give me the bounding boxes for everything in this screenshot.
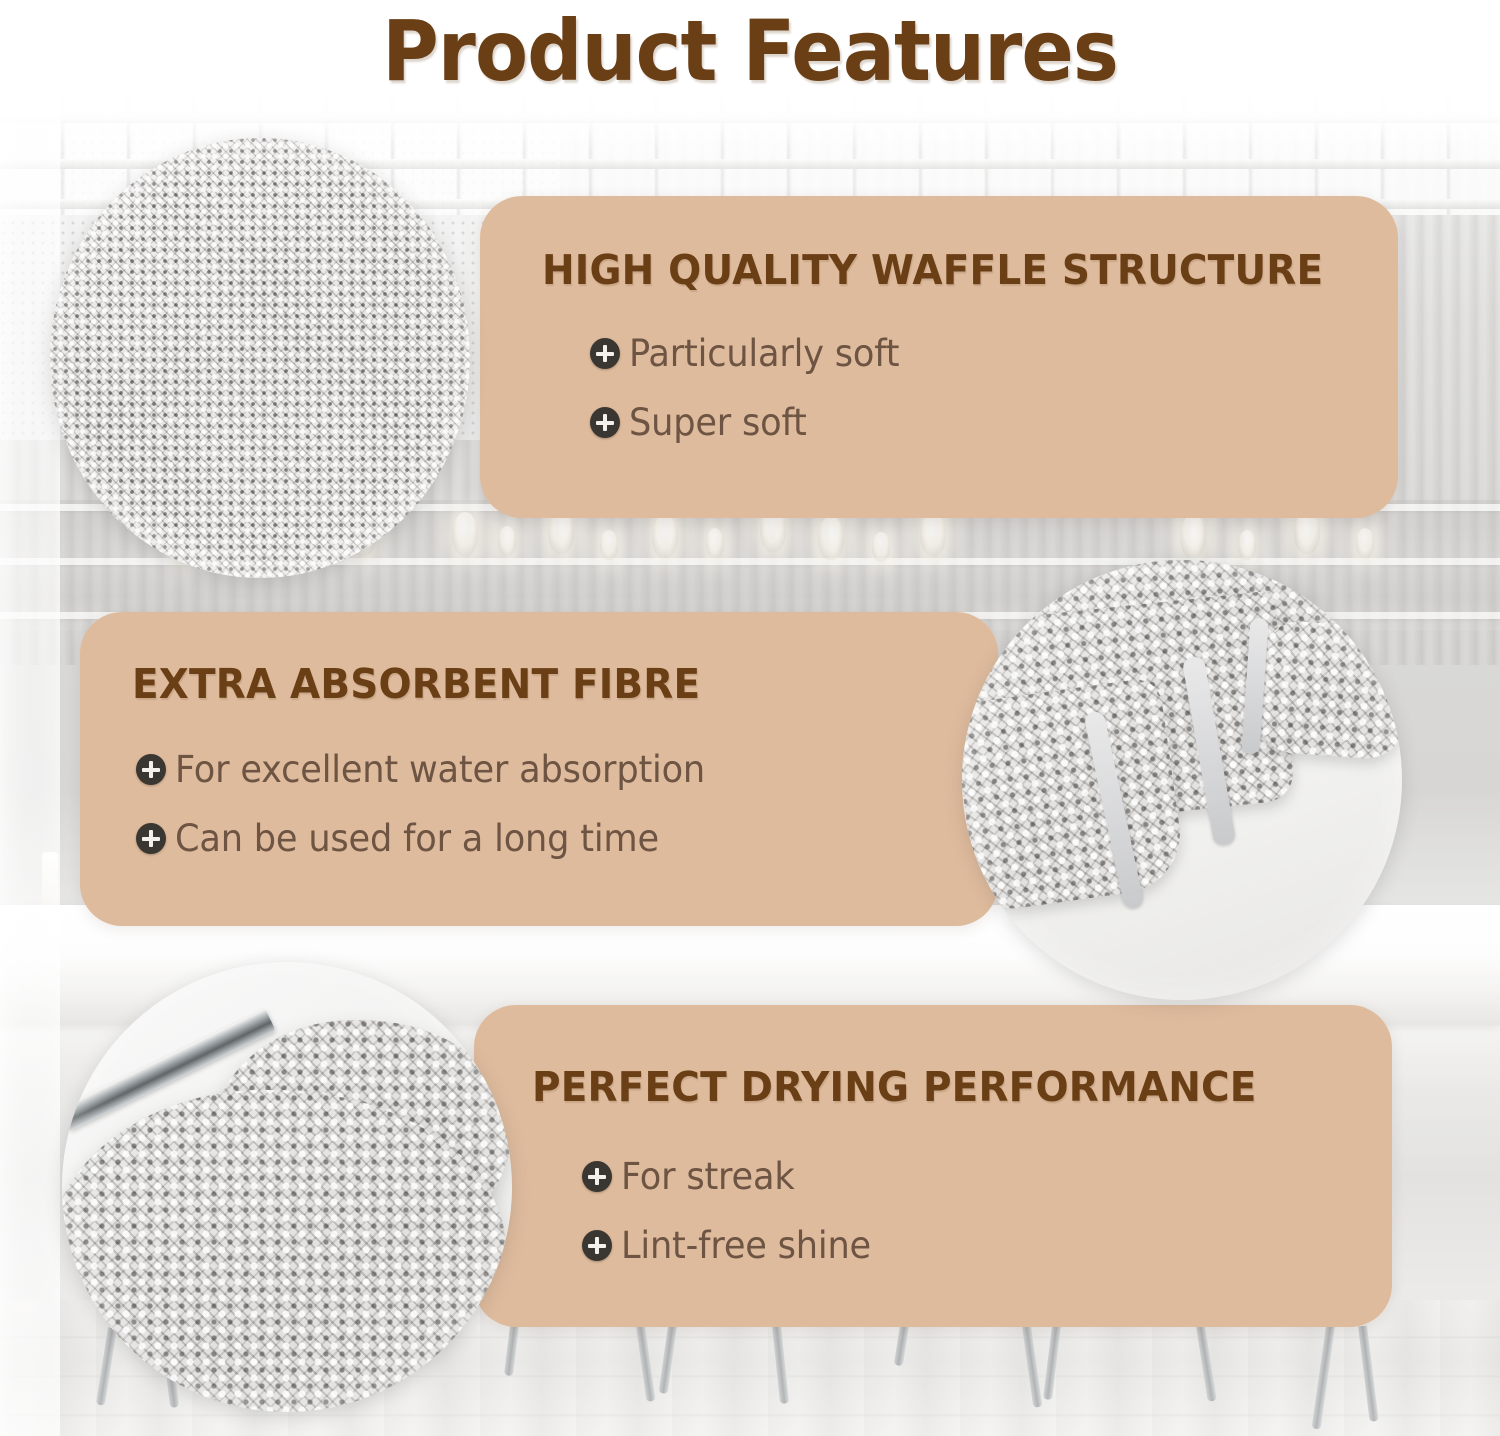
product-photo-folded-towel: [962, 560, 1402, 1000]
feature-card-absorbent-fibre: EXTRA ABSORBENT FIBRE For excellent wate…: [80, 612, 998, 926]
towel-fold-front: [962, 676, 1188, 913]
product-photo-waffle-closeup: [50, 138, 470, 578]
towel-fold-right: [1254, 619, 1402, 761]
feature-card-drying-performance: PERFECT DRYING PERFORMANCE For streak Li…: [474, 1005, 1392, 1327]
feature-heading: HIGH QUALITY WAFFLE STRUCTURE: [542, 246, 1323, 294]
plus-circle-icon: [582, 1161, 612, 1192]
feature-bullet-list: Particularly soft Super soft: [590, 332, 914, 470]
feature-heading: EXTRA ABSORBENT FIBRE: [132, 660, 700, 708]
list-item: Can be used for a long time: [136, 817, 733, 860]
plus-circle-icon: [590, 338, 620, 369]
photo-edge-fade: [50, 138, 470, 578]
list-item: Super soft: [590, 401, 914, 444]
plus-circle-icon: [136, 754, 166, 785]
bullet-label: For excellent water absorption: [175, 748, 705, 791]
towel-mound-front: [62, 1090, 506, 1412]
bullet-label: For streak: [621, 1155, 794, 1198]
bullet-label: Can be used for a long time: [175, 817, 659, 860]
bullet-label: Particularly soft: [629, 332, 899, 375]
feature-card-waffle-structure: HIGH QUALITY WAFFLE STRUCTURE Particular…: [480, 196, 1398, 518]
product-photo-bunched-towel: [62, 962, 512, 1412]
plus-circle-icon: [582, 1230, 612, 1261]
list-item: Lint-free shine: [582, 1224, 884, 1267]
feature-bullet-list: For streak Lint-free shine: [582, 1155, 884, 1293]
list-item: Particularly soft: [590, 332, 914, 375]
list-item: For excellent water absorption: [136, 748, 733, 791]
page-title: Product Features: [60, 2, 1440, 100]
list-item: For streak: [582, 1155, 884, 1198]
plus-circle-icon: [590, 407, 620, 438]
bullet-label: Lint-free shine: [621, 1224, 871, 1267]
feature-bullet-list: For excellent water absorption Can be us…: [136, 748, 733, 886]
plus-circle-icon: [136, 823, 166, 854]
feature-heading: PERFECT DRYING PERFORMANCE: [532, 1063, 1257, 1111]
product-features-infographic: Product Features HIGH QUALITY WAFFLE STR…: [0, 0, 1500, 1436]
bullet-label: Super soft: [629, 401, 807, 444]
